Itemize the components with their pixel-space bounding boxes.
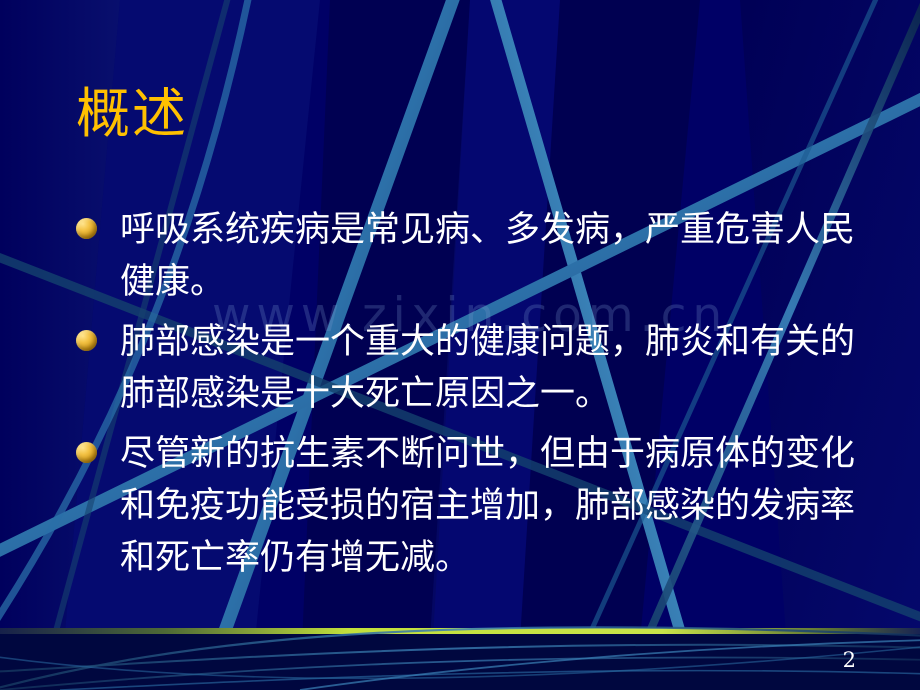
- page-title: 概述: [76, 86, 188, 143]
- bullet-list: 呼吸系统疾病是常见病、多发病，严重危害人民健康。 肺部感染是一个重大的健康问题，…: [70, 204, 870, 592]
- gold-sphere-bullet-icon: [76, 330, 97, 351]
- list-item-label: 尽管新的抗生素不断问世，但由于病原体的变化和免疫功能受损的宿主增加，肺部感染的发…: [120, 434, 855, 578]
- slide-content: www.zixin.com.cn 概述 呼吸系统疾病是常见病、多发病，严重危害人…: [0, 0, 920, 690]
- gold-sphere-bullet-icon: [76, 442, 97, 463]
- gold-sphere-bullet-icon: [76, 218, 97, 239]
- list-item[interactable]: 尽管新的抗生素不断问世，但由于病原体的变化和免疫功能受损的宿主增加，肺部感染的发…: [70, 428, 870, 584]
- presentation-slide: www.zixin.com.cn 概述 呼吸系统疾病是常见病、多发病，严重危害人…: [0, 0, 920, 690]
- list-item[interactable]: 肺部感染是一个重大的健康问题，肺炎和有关的肺部感染是十大死亡原因之一。: [70, 316, 870, 420]
- list-item[interactable]: 呼吸系统疾病是常见病、多发病，严重危害人民健康。: [70, 204, 870, 308]
- list-item-label: 呼吸系统疾病是常见病、多发病，严重危害人民健康。: [120, 210, 855, 302]
- list-item-label: 肺部感染是一个重大的健康问题，肺炎和有关的肺部感染是十大死亡原因之一。: [120, 322, 855, 414]
- page-number: 2: [843, 648, 856, 672]
